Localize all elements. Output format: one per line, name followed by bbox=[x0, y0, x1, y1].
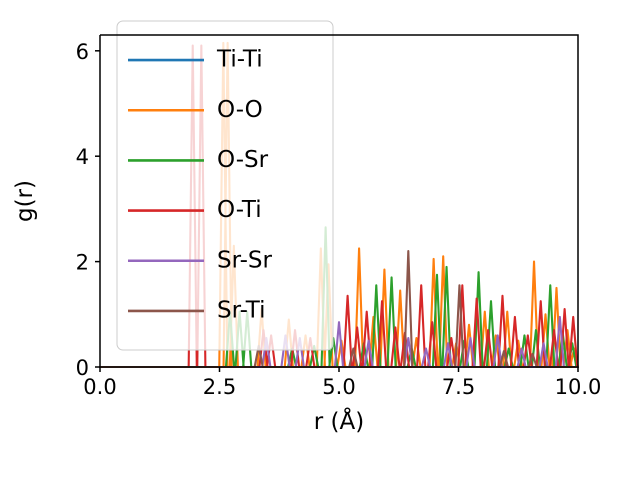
x-tick-label: 10.0 bbox=[555, 375, 602, 399]
x-tick-label: 2.5 bbox=[203, 375, 236, 399]
y-axis-label: g(r) bbox=[12, 180, 38, 222]
x-axis-label: r (Å) bbox=[314, 407, 364, 435]
x-tick-label: 7.5 bbox=[442, 375, 475, 399]
legend-label-o-o: O-O bbox=[217, 97, 263, 123]
legend-label-o-ti: O-Ti bbox=[217, 197, 262, 223]
y-tick-label: 4 bbox=[76, 145, 89, 169]
x-tick-label: 5.0 bbox=[322, 375, 355, 399]
legend-label-o-sr: O-Sr bbox=[217, 147, 269, 173]
legend-label-sr-sr: Sr-Sr bbox=[217, 247, 272, 273]
chart-canvas: Ti-TiO-OO-SrO-TiSr-SrSr-Ti 0.02.55.07.51… bbox=[0, 0, 640, 480]
radial-distribution-chart-figure: Ti-TiO-OO-SrO-TiSr-SrSr-Ti 0.02.55.07.51… bbox=[0, 0, 640, 480]
y-tick-label: 0 bbox=[76, 356, 89, 380]
chart-legend: Ti-TiO-OO-SrO-TiSr-SrSr-Ti bbox=[117, 21, 333, 350]
legend-label-ti-ti: Ti-Ti bbox=[216, 47, 263, 73]
y-tick-label: 2 bbox=[76, 251, 89, 275]
legend-label-sr-ti: Sr-Ti bbox=[217, 297, 266, 323]
y-tick-label: 6 bbox=[76, 40, 89, 64]
